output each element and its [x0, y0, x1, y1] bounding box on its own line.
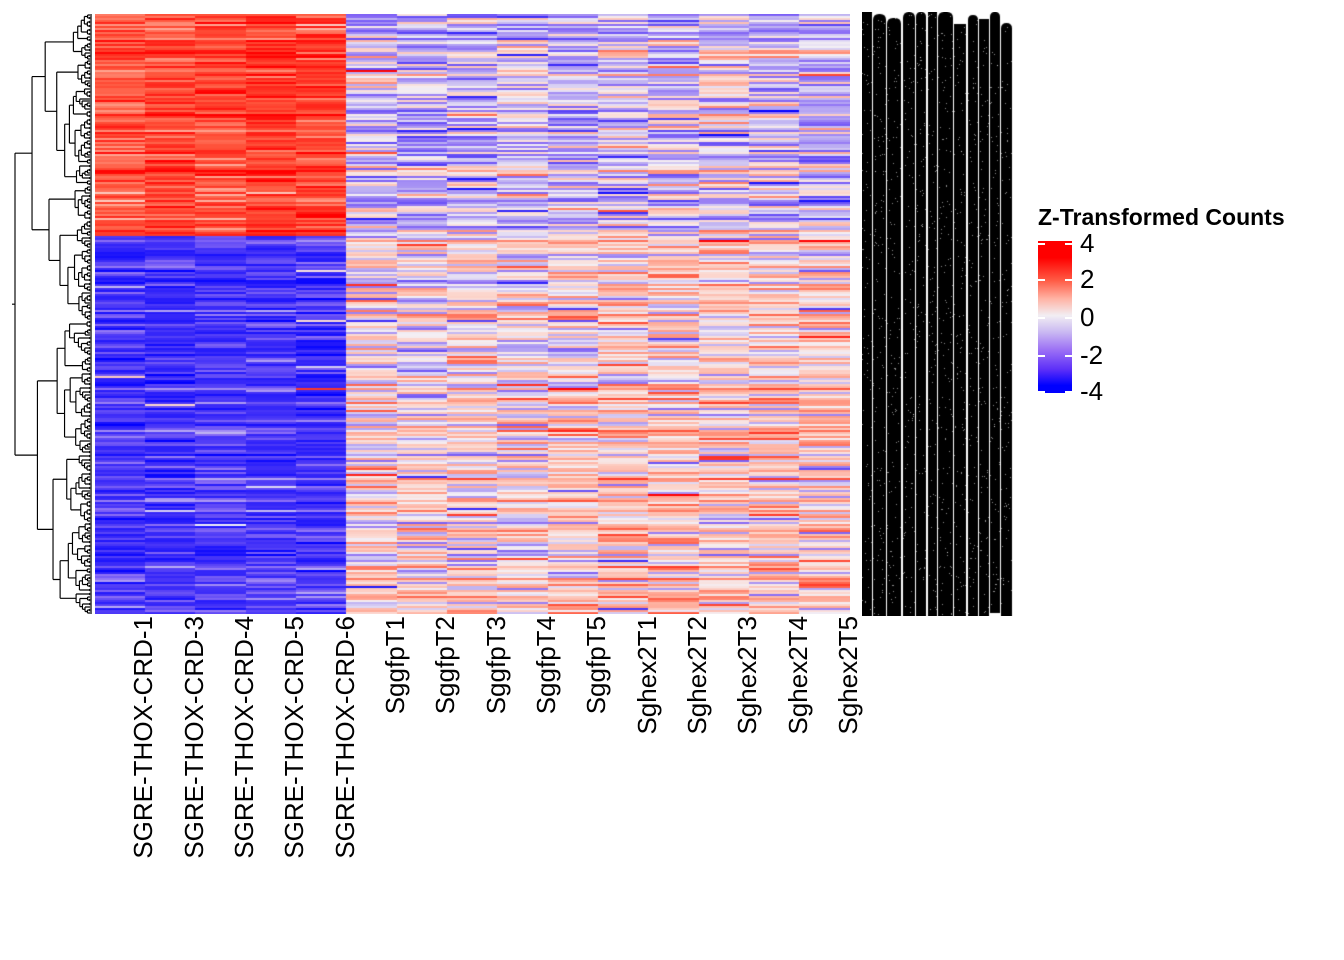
- column-label-sggfpt3: SggfpT3: [483, 616, 509, 714]
- column-label-sghex2t5: Sghex2T5: [835, 616, 861, 735]
- column-label-sggfpt4: SggfpT4: [533, 616, 559, 714]
- legend-tick-mark: [1065, 243, 1072, 245]
- legend-tick-mark: [1038, 317, 1045, 319]
- dendrogram-branches: [12, 15, 92, 613]
- row-label-bars: [862, 12, 1014, 616]
- row-dendrogram-svg: [12, 14, 92, 614]
- column-label-sgre-thox-crd-3: SGRE-THOX-CRD-3: [181, 616, 207, 859]
- legend-tick-mark: [1038, 279, 1045, 281]
- column-label-sghex2t3: Sghex2T3: [734, 616, 760, 735]
- column-axis-labels: SGRE-THOX-CRD-1SGRE-THOX-CRD-3SGRE-THOX-…: [95, 616, 850, 936]
- row-label-block: [862, 12, 1014, 616]
- row-dendrogram: [12, 14, 92, 614]
- legend-tick-mark: [1038, 391, 1045, 393]
- legend-tick-mark: [1065, 391, 1072, 393]
- column-label-sgre-thox-crd-6: SGRE-THOX-CRD-6: [332, 616, 358, 859]
- legend-tick-mark: [1065, 279, 1072, 281]
- column-label-sgre-thox-crd-5: SGRE-THOX-CRD-5: [281, 616, 307, 859]
- column-label-sggfpt5: SggfpT5: [583, 616, 609, 714]
- legend-tick-label: 0: [1080, 304, 1094, 330]
- heatmap-matrix[interactable]: [95, 14, 850, 614]
- legend-tick-mark: [1038, 243, 1045, 245]
- column-label-sghex2t2: Sghex2T2: [684, 616, 710, 735]
- legend-tick-mark: [1038, 355, 1045, 357]
- column-label-sgre-thox-crd-4: SGRE-THOX-CRD-4: [231, 616, 257, 859]
- column-label-sghex2t1: Sghex2T1: [634, 616, 660, 735]
- heatmap-panel[interactable]: [95, 14, 850, 614]
- legend-tick-label: 4: [1080, 230, 1094, 256]
- legend-tick-label: -2: [1080, 342, 1103, 368]
- legend-colorbar-body: 420-2-4: [1036, 241, 1236, 409]
- legend: Z-Transformed Counts 420-2-4: [1036, 206, 1336, 409]
- legend-title: Z-Transformed Counts: [1038, 206, 1336, 229]
- legend-tick-label: 2: [1080, 266, 1094, 292]
- legend-tick-mark: [1065, 355, 1072, 357]
- column-label-sggfpt1: SggfpT1: [382, 616, 408, 714]
- column-label-sgre-thox-crd-1: SGRE-THOX-CRD-1: [130, 616, 156, 859]
- column-label-sghex2t4: Sghex2T4: [785, 616, 811, 735]
- legend-tick-mark: [1065, 317, 1072, 319]
- column-label-sggfpt2: SggfpT2: [432, 616, 458, 714]
- legend-tick-label: -4: [1080, 378, 1103, 404]
